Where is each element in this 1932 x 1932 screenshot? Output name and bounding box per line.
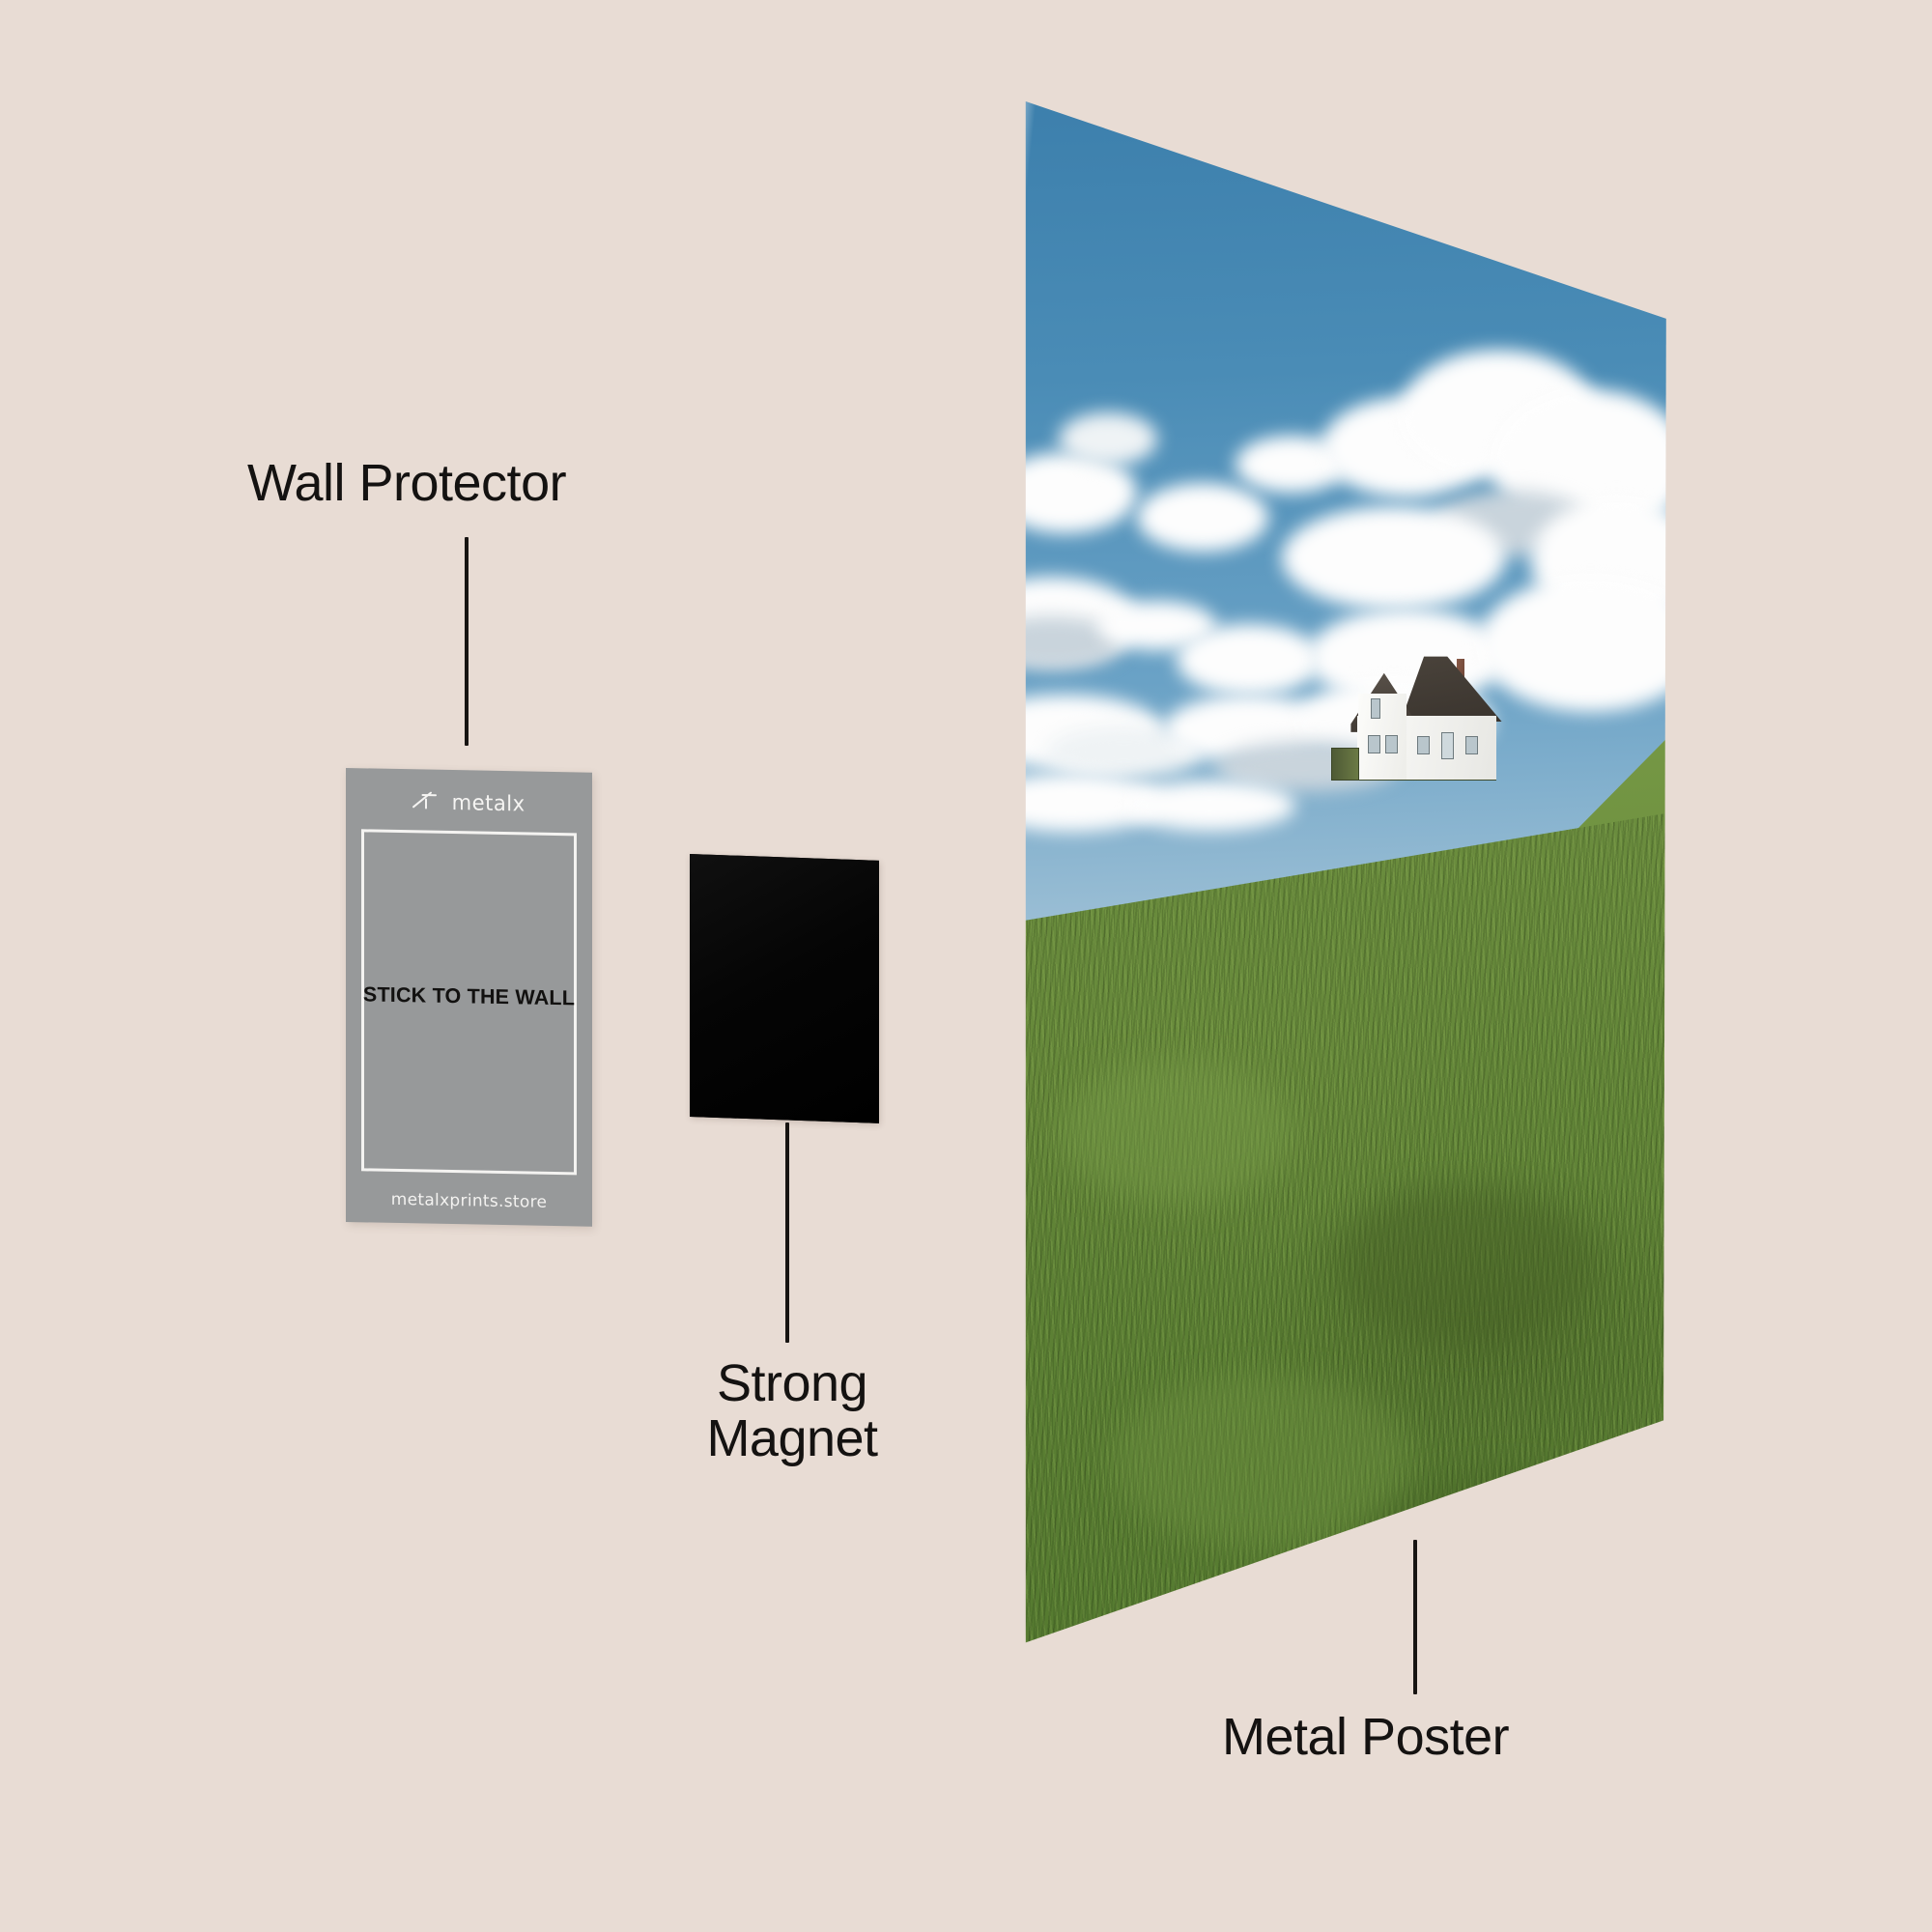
leader-line-wall-protector xyxy=(465,537,469,746)
house-deck xyxy=(1331,748,1359,781)
house-gable-wall xyxy=(1358,694,1406,780)
grass-patch xyxy=(1059,1062,1295,1203)
house-door xyxy=(1441,732,1454,760)
cloud-shape xyxy=(1177,624,1321,696)
grass-patch xyxy=(1334,1187,1597,1344)
wall-protector-headline: STICK TO THE WALL xyxy=(346,982,592,1011)
cloud-shape xyxy=(1137,483,1268,552)
wall-protector-brand-text: metalx xyxy=(452,791,526,816)
house-window xyxy=(1368,735,1380,753)
house-window xyxy=(1371,698,1380,719)
cloud-shape xyxy=(1282,506,1505,610)
callout-label-strong-magnet: Strong Magnet xyxy=(676,1356,908,1466)
infographic-canvas: Wall Protector metalx STICK TO THE WALL … xyxy=(0,0,1932,1932)
cloud-shape xyxy=(1059,412,1157,466)
wall-protector-sheet[interactable]: metalx STICK TO THE WALL metalxprints.st… xyxy=(346,768,592,1227)
house-window xyxy=(1385,735,1398,753)
metal-poster-artwork xyxy=(1019,92,1676,1657)
grass-patch xyxy=(1361,1469,1650,1626)
strong-magnet-square[interactable] xyxy=(690,854,879,1123)
metal-poster-panel[interactable] xyxy=(1019,92,1676,1657)
callout-label-wall-protector: Wall Protector xyxy=(247,456,566,511)
house-window xyxy=(1465,736,1478,754)
house-window xyxy=(1417,736,1430,754)
wall-protector-url: metalxprints.store xyxy=(346,1189,592,1213)
cottage-house xyxy=(1350,655,1501,783)
cloud-shape xyxy=(1124,781,1295,831)
leader-line-metal-poster xyxy=(1413,1540,1417,1694)
callout-label-metal-poster: Metal Poster xyxy=(1222,1710,1509,1765)
leader-line-strong-magnet xyxy=(785,1122,789,1343)
wall-protector-logo: metalx xyxy=(346,787,592,820)
metalx-cross-logo-icon xyxy=(411,788,443,817)
